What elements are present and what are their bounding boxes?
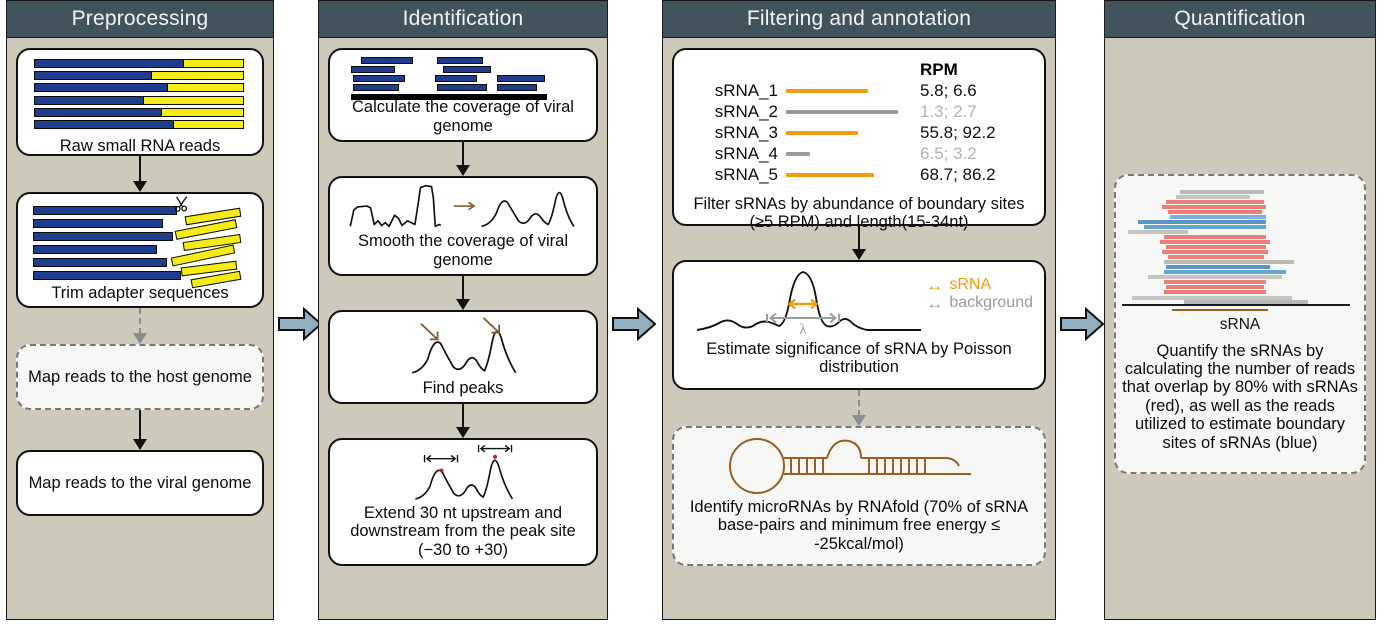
step-quantify-label: Quantify the sRNAs by calculating the nu… xyxy=(1122,342,1358,453)
coverage-read xyxy=(497,84,537,91)
rpm-row-bar xyxy=(786,173,910,177)
connector-trim-to-host xyxy=(133,308,147,344)
step-find-peaks[interactable]: Find peaks xyxy=(328,310,598,404)
step-extend-30nt[interactable]: Extend 30 nt upstream and downstream fro… xyxy=(328,438,598,566)
lambda-label: λ xyxy=(799,322,807,338)
step-raw-reads[interactable]: Raw small RNA reads xyxy=(16,48,264,156)
read-srna-red xyxy=(1162,205,1266,209)
rpm-row-bar xyxy=(786,131,910,135)
read-boundary-blue xyxy=(1164,270,1286,274)
coverage-read xyxy=(437,57,483,64)
step-calc-coverage-label: Calculate the coverage of viral genome xyxy=(336,98,590,135)
step-map-viral-label: Map reads to the viral genome xyxy=(29,474,252,492)
coverage-illustration xyxy=(337,57,589,94)
coverage-read xyxy=(353,84,399,91)
connector-host-to-viral xyxy=(133,410,147,450)
read-srna-red xyxy=(1166,200,1264,204)
coverage-read xyxy=(443,66,491,73)
step-map-host-label: Map reads to the host genome xyxy=(28,368,252,386)
step-smooth-coverage-label: Smooth the coverage of viral genome xyxy=(336,232,590,269)
step-map-host[interactable]: Map reads to the host genome xyxy=(16,344,264,410)
coverage-read xyxy=(353,75,405,82)
srna-span-marker xyxy=(1172,309,1268,311)
rpm-row-value: 6.5; 3.2 xyxy=(910,144,977,164)
column-title-preprocessing: Preprocessing xyxy=(6,0,274,38)
trimmed-read xyxy=(33,271,181,280)
read-srna-red xyxy=(1168,210,1262,214)
rpm-row-name: sRNA_2 xyxy=(684,102,786,122)
rpm-row-bar xyxy=(786,89,910,93)
table-row: sRNA_2 1.3; 2.7 xyxy=(684,102,1034,122)
read-srna-red xyxy=(1166,285,1264,289)
rpm-row-name: sRNA_4 xyxy=(684,144,786,164)
step-raw-reads-label: Raw small RNA reads xyxy=(60,137,220,155)
genome-axis-line xyxy=(1122,304,1350,307)
rpm-row-name: sRNA_1 xyxy=(684,81,786,101)
column-body-preprocessing: Raw small RNA reads xyxy=(6,38,274,620)
column-body-quantification: sRNA Quantify the sRNAs by calculating t… xyxy=(1104,38,1376,620)
rpm-row-value: 68.7; 86.2 xyxy=(910,165,996,185)
read-bar xyxy=(34,108,247,117)
step-trim-adapter-label: Trim adapter sequences xyxy=(51,284,228,302)
column-title-identification: Identification xyxy=(318,0,608,38)
smoothing-illustration xyxy=(337,182,589,230)
read-srna-red xyxy=(1164,280,1266,284)
read-srna-red xyxy=(1162,250,1268,254)
table-row: sRNA_4 6.5; 3.2 xyxy=(684,144,1034,164)
read-background xyxy=(1164,260,1294,264)
rpm-header-label: RPM xyxy=(910,60,958,80)
step-filter-srna[interactable]: x RPM sRNA_1 5.8; 6.6 sRNA_2 1.3; 2.7 xyxy=(672,48,1046,226)
connector-coverage-to-smooth xyxy=(456,142,470,176)
quantification-axis-label: sRNA xyxy=(1220,316,1260,334)
step-calc-coverage[interactable]: Calculate the coverage of viral genome xyxy=(328,48,598,142)
legend-item-background: ↔ background xyxy=(926,294,1033,312)
hairpin-illustration xyxy=(709,436,1009,496)
rpm-row-name: sRNA_5 xyxy=(684,165,786,185)
read-background xyxy=(1128,230,1188,234)
trimmed-read xyxy=(33,219,163,228)
read-bar xyxy=(34,83,247,92)
flow-arrow-3 xyxy=(1060,307,1104,341)
legend-label-srna: sRNA xyxy=(949,276,991,294)
rpm-row-value: 5.8; 6.6 xyxy=(910,81,977,101)
coverage-read xyxy=(351,66,395,73)
column-body-filtering-annotation: x RPM sRNA_1 5.8; 6.6 sRNA_2 1.3; 2.7 xyxy=(662,38,1056,620)
read-srna-red xyxy=(1160,240,1270,244)
double-arrow-icon: ↔ xyxy=(926,277,943,294)
table-row: sRNA_1 5.8; 6.6 xyxy=(684,81,1034,101)
read-bar xyxy=(34,71,247,80)
step-extend-30nt-label: Extend 30 nt upstream and downstream fro… xyxy=(336,504,590,559)
connector-peaks-to-extend xyxy=(456,404,470,438)
trimmed-read xyxy=(33,232,173,241)
read-background xyxy=(1180,190,1264,194)
step-trim-adapter[interactable]: Trim adapter sequences xyxy=(16,192,264,308)
read-bar xyxy=(34,59,247,68)
trimmed-read xyxy=(33,245,157,254)
flow-arrow-1 xyxy=(278,307,322,341)
connector-smooth-to-peaks xyxy=(456,276,470,310)
quantification-read-stack xyxy=(1120,190,1360,312)
connector-poisson-to-mirna xyxy=(852,390,866,426)
step-identify-mirna-label: Identify microRNAs by RNAfold (70% of sR… xyxy=(680,498,1038,553)
rpm-row-bar xyxy=(786,152,910,156)
read-srna-red xyxy=(1164,235,1266,239)
coverage-read xyxy=(435,75,477,82)
rpm-table-header-row: x RPM xyxy=(684,60,1034,80)
double-arrow-icon: ↔ xyxy=(926,295,943,312)
step-poisson[interactable]: λ ↔ sRNA ↔ background Estimate significa… xyxy=(672,260,1046,390)
trimmed-read xyxy=(33,258,167,267)
column-title-quantification: Quantification xyxy=(1104,0,1376,38)
coverage-read xyxy=(437,84,487,91)
read-boundary-blue xyxy=(1170,215,1266,219)
peak-dot xyxy=(493,455,497,459)
read-background xyxy=(1148,275,1282,279)
legend-label-background: background xyxy=(949,294,1033,312)
find-peaks-illustration xyxy=(337,316,589,377)
extend-illustration xyxy=(337,444,589,503)
rpm-row-name: sRNA_3 xyxy=(684,123,786,143)
poisson-illustration: λ ↔ sRNA ↔ background xyxy=(683,268,1035,340)
step-quantify[interactable]: sRNA Quantify the sRNAs by calculating t… xyxy=(1114,174,1366,474)
column-body-identification: Calculate the coverage of viral genome S… xyxy=(318,38,608,620)
trimmed-read xyxy=(33,206,177,215)
legend-item-srna: ↔ sRNA xyxy=(926,276,1033,294)
coverage-read xyxy=(497,75,545,82)
trim-illustration xyxy=(33,206,248,282)
rpm-row-value: 55.8; 92.2 xyxy=(910,123,996,143)
column-preprocessing: Preprocessing Raw small RNA reads xyxy=(6,0,274,620)
read-boundary-blue xyxy=(1144,225,1266,229)
scissors-icon xyxy=(174,195,192,213)
column-title-filtering-annotation: Filtering and annotation xyxy=(662,0,1056,38)
read-boundary-blue xyxy=(1166,265,1270,269)
rpm-row-bar xyxy=(786,110,910,114)
peak-dot xyxy=(439,468,443,472)
read-background xyxy=(1176,195,1250,199)
step-map-viral[interactable]: Map reads to the viral genome xyxy=(16,450,264,516)
read-srna-red xyxy=(1164,290,1266,294)
read-srna-red xyxy=(1168,255,1264,259)
rpm-table: x RPM sRNA_1 5.8; 6.6 sRNA_2 1.3; 2.7 xyxy=(680,58,1038,185)
read-bar xyxy=(34,96,247,105)
step-poisson-label: Estimate significance of sRNA by Poisson… xyxy=(680,340,1038,377)
step-smooth-coverage[interactable]: Smooth the coverage of viral genome xyxy=(328,176,598,276)
read-boundary-blue xyxy=(1138,220,1266,224)
column-identification: Identification Calculate the cove xyxy=(318,0,608,620)
workflow-diagram: Preprocessing Raw small RNA reads xyxy=(0,0,1383,624)
column-quantification: Quantification xyxy=(1104,0,1376,620)
step-find-peaks-label: Find peaks xyxy=(423,379,504,397)
table-row: sRNA_5 68.7; 86.2 xyxy=(684,165,1034,185)
rpm-row-value: 1.3; 2.7 xyxy=(910,102,977,122)
raw-reads-illustration xyxy=(34,59,247,132)
column-filtering-annotation: Filtering and annotation x RPM sRNA_1 5.… xyxy=(662,0,1056,620)
flow-arrow-2 xyxy=(612,307,656,341)
connector-filter-to-poisson xyxy=(852,226,866,260)
table-row: sRNA_3 55.8; 92.2 xyxy=(684,123,1034,143)
read-srna-red xyxy=(1166,245,1266,249)
connector-raw-to-trim xyxy=(133,156,147,192)
step-identify-mirna[interactable]: Identify microRNAs by RNAfold (70% of sR… xyxy=(672,426,1046,566)
viral-genome-line xyxy=(351,94,547,100)
read-bar xyxy=(34,120,247,129)
coverage-read xyxy=(361,57,413,64)
